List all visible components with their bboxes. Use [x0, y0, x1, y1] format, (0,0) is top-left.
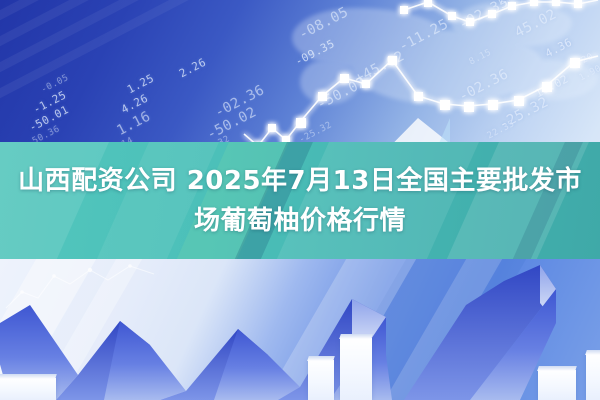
title-line-2: 场葡萄柚价格行情 — [194, 201, 406, 241]
bar-column — [340, 338, 372, 400]
bar-column — [0, 378, 56, 400]
title-line-1: 山西配资公司 2025年7月13日全国主要批发市 — [18, 161, 582, 201]
bar-column — [308, 360, 334, 400]
sparkline-cluster — [4, 262, 164, 332]
page-title: 山西配资公司 2025年7月13日全国主要批发市 场葡萄柚价格行情 — [0, 142, 600, 259]
bar-column — [538, 370, 576, 400]
bar-column — [586, 354, 600, 400]
news-banner: -08.05 -02.35 21.03 45.02 -09.35 -11.25 … — [0, 0, 600, 400]
